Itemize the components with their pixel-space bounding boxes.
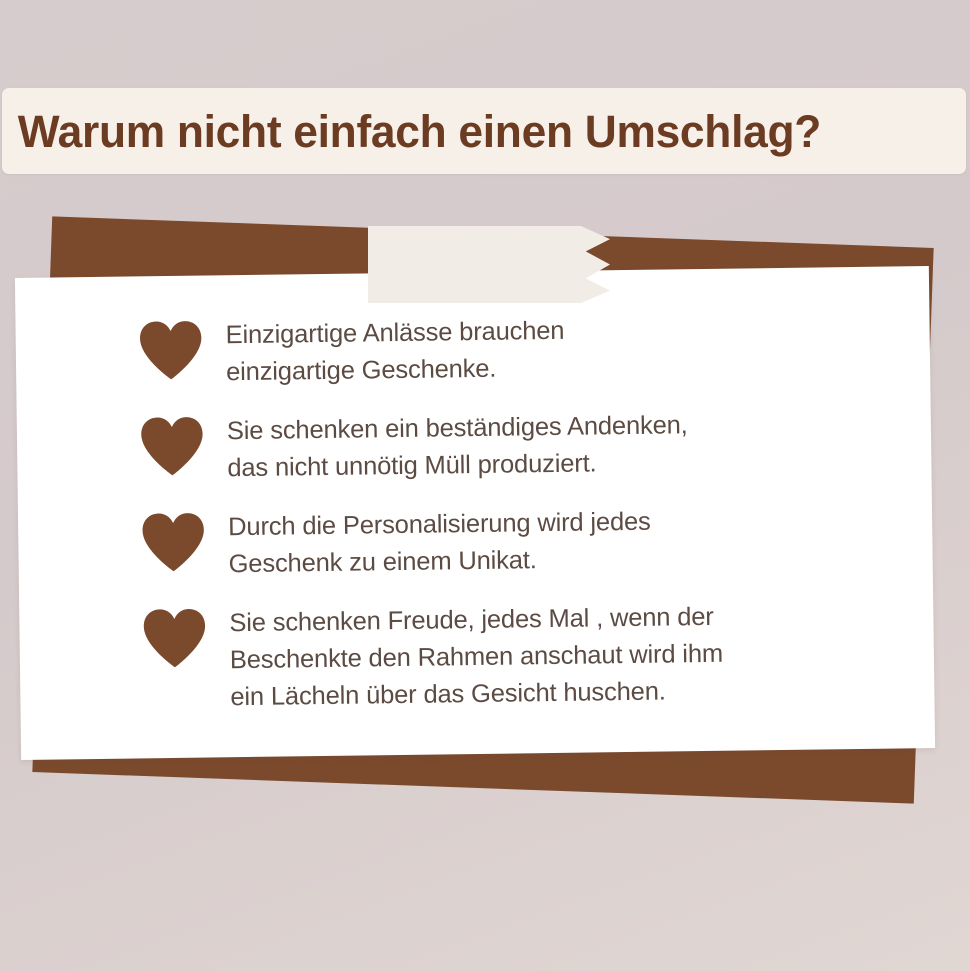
heart-icon: [137, 320, 204, 381]
heart-icon: [140, 512, 207, 573]
white-content-card: Einzigartige Anlässe brauchen einzigarti…: [15, 266, 935, 760]
list-item-text: Sie schenken ein beständiges Andenken, d…: [227, 407, 689, 487]
heart-icon: [141, 608, 208, 669]
list-item: Durch die Personalisierung wird jedes Ge…: [140, 500, 933, 584]
list-item-text: Sie schenken Freude, jedes Mal , wenn de…: [229, 599, 724, 716]
title-banner: Warum nicht einfach einen Umschlag?: [2, 88, 966, 174]
list-item: Einzigartige Anlässe brauchen einzigarti…: [137, 308, 930, 392]
heart-icon: [139, 416, 206, 477]
poster-canvas: Einzigartige Anlässe brauchen einzigarti…: [0, 0, 970, 971]
page-title: Warum nicht einfach einen Umschlag?: [2, 109, 821, 154]
list-item: Sie schenken ein beständiges Andenken, d…: [139, 404, 932, 488]
list-item-text: Einzigartige Anlässe brauchen einzigarti…: [225, 313, 565, 391]
washi-tape-icon: [368, 226, 610, 303]
benefits-list: Einzigartige Anlässe brauchen einzigarti…: [15, 266, 935, 760]
list-item-text: Durch die Personalisierung wird jedes Ge…: [228, 504, 651, 584]
list-item: Sie schenken Freude, jedes Mal , wenn de…: [141, 596, 934, 717]
